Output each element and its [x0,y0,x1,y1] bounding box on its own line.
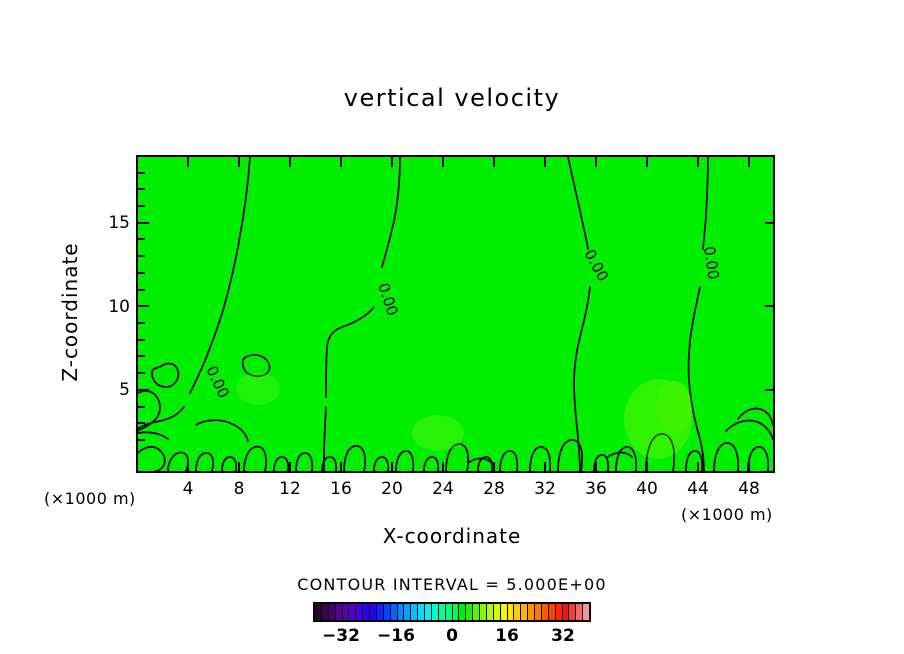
contour-plot-area: 0.00 0.00 0.00 0.00 [136,155,775,473]
y-tick [137,389,149,391]
y-tick [137,322,145,324]
colorbar-swatch [411,604,418,620]
x-tick-label: 28 [472,479,516,499]
colorbar-tick-label: 0 [430,626,474,646]
colorbar-swatch [370,604,377,620]
colorbar-swatch [501,604,508,620]
x-tick-label: 24 [421,479,465,499]
x-tick-top [289,156,291,167]
x-tick-label: 16 [319,479,363,499]
y-tick-right [765,389,775,391]
y-tick [137,339,145,341]
x-tick [493,462,495,473]
colorbar-swatch [377,604,384,620]
colorbar-swatch [535,604,542,620]
y-tick [137,305,149,307]
x-tick-label: 8 [217,479,261,499]
colorbar-tick-label: 16 [485,626,529,646]
colorbar-swatch [343,604,350,620]
colorbar-swatch [322,604,329,620]
x-tick-label: 32 [523,479,567,499]
contour-label: 0.00 [580,246,612,284]
x-tick-top [391,156,393,167]
colorbar-tick-labels: −32 −16 0 16 32 [313,626,591,648]
y-tick [137,289,145,291]
colorbar-swatch [356,604,363,620]
colorbar-swatch [404,604,411,620]
colorbar-swatch [336,604,343,620]
x-tick-top [238,156,240,167]
colorbar-swatch [384,604,391,620]
colorbar-swatch [528,604,535,620]
y-tick [137,439,145,441]
colorbar-tick-label: 32 [541,626,585,646]
x-tick-top [697,156,699,167]
colorbar-swatch [398,604,405,620]
colorbar-swatch [432,604,439,620]
x-tick [646,462,648,473]
y-axis-unit: (×1000 m) [44,489,136,508]
x-axis-title: X-coordinate [0,524,904,548]
x-tick-label: 36 [574,479,618,499]
colorbar-swatch [418,604,425,620]
colorbar-swatch [446,604,453,620]
colorbar-swatch [391,604,398,620]
colorbar-swatch [349,604,356,620]
x-tick-top [748,156,750,167]
y-tick-right [765,305,775,307]
x-tick-label: 4 [166,479,210,499]
x-tick [391,462,393,473]
colorbar-swatch [459,604,466,620]
y-tick [137,372,145,374]
colorbar-swatch [480,604,487,620]
y-tick-label: 10 [96,297,130,317]
x-tick [442,462,444,473]
x-tick-top [493,156,495,167]
x-tick [595,462,597,473]
colorbar-swatch [576,604,583,620]
figure-canvas: vertical velocity [0,0,904,654]
x-tick-label: 44 [676,479,720,499]
x-tick [340,462,342,473]
contour-label: 0.00 [202,363,232,401]
colorbar-tick-label: −32 [319,626,363,646]
colorbar-swatch [521,604,528,620]
x-tick [544,462,546,473]
y-tick-right [765,222,775,224]
y-tick [137,188,145,190]
y-tick [137,406,145,408]
x-tick [187,462,189,473]
colorbar-swatch [494,604,501,620]
x-tick [238,462,240,473]
contour-label: 0.00 [700,245,722,281]
y-tick [137,355,145,357]
x-tick [697,462,699,473]
colorbar-swatch [466,604,473,620]
contour-lines: 0.00 0.00 0.00 0.00 [138,157,773,471]
colorbar-swatch [549,604,556,620]
colorbar-swatch [563,604,570,620]
colorbar-swatch [556,604,563,620]
y-axis-title: Z-coordinate [58,212,82,412]
y-tick [137,222,149,224]
colorbar-tick-label: −16 [374,626,418,646]
y-tick-label: 5 [96,380,130,400]
colorbar-swatch [315,604,322,620]
y-tick [137,172,145,174]
x-tick-top [340,156,342,167]
x-tick-label: 20 [370,479,414,499]
x-tick-top [646,156,648,167]
colorbar-swatch [439,604,446,620]
y-tick [137,205,145,207]
colorbar-swatch [583,604,589,620]
colorbar [313,602,591,622]
contour-label: 0.00 [374,281,401,318]
x-tick-label: 40 [625,479,669,499]
x-tick-top [187,156,189,167]
y-tick [137,255,145,257]
colorbar-swatch [542,604,549,620]
x-tick-top [595,156,597,167]
colorbar-swatch [487,604,494,620]
x-tick [748,462,750,473]
colorbar-swatch [425,604,432,620]
x-tick-label: 48 [727,479,771,499]
colorbar-swatch [514,604,521,620]
y-tick [137,422,145,424]
colorbar-swatch [569,604,576,620]
colorbar-swatch [508,604,515,620]
x-tick-top [544,156,546,167]
chart-title: vertical velocity [0,84,904,112]
x-tick-label: 12 [268,479,312,499]
colorbar-swatch [453,604,460,620]
y-tick [137,238,145,240]
contour-interval-text: CONTOUR INTERVAL = 5.000E+00 [0,575,904,594]
colorbar-swatch [329,604,336,620]
x-tick-top [442,156,444,167]
y-tick [137,272,145,274]
y-tick-label: 15 [96,213,130,233]
x-tick [289,462,291,473]
colorbar-swatch [473,604,480,620]
x-axis-unit: (×1000 m) [681,505,773,524]
colorbar-swatch [363,604,370,620]
